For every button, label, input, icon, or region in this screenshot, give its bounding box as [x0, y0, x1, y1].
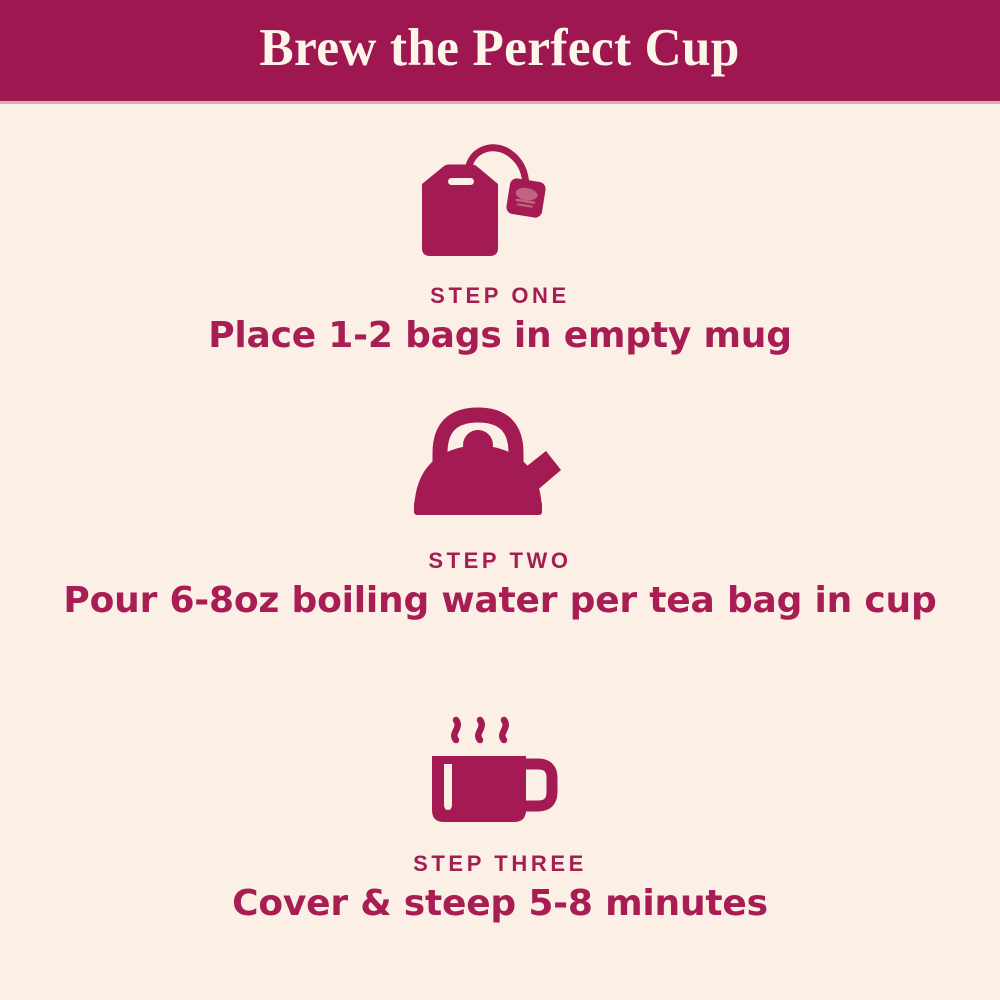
header-band: Brew the Perfect Cup [0, 0, 1000, 101]
step-three-text: Cover & steep 5-8 minutes [0, 877, 1000, 925]
kettle-icon [0, 401, 1000, 526]
steaming-mug-icon [0, 704, 1000, 829]
tea-bag-icon [0, 136, 1000, 261]
step-two-text: Pour 6-8oz boiling water per tea bag in … [0, 574, 1000, 622]
step-one-text: Place 1-2 bags in empty mug [0, 309, 1000, 357]
step-one-label: STEP ONE [0, 283, 1000, 309]
step-item-one: STEP ONE Place 1-2 bags in empty mug [0, 136, 1000, 358]
brew-instructions-infographic: Brew the Perfect Cup [0, 0, 1000, 1000]
page-title: Brew the Perfect Cup [260, 22, 740, 79]
steps-list: STEP ONE Place 1-2 bags in empty mug [0, 101, 1000, 1000]
step-item-two: STEP TWO Pour 6-8oz boiling water per te… [0, 401, 1000, 623]
step-two-label: STEP TWO [0, 548, 1000, 574]
step-item-three: STEP THREE Cover & steep 5-8 minutes [0, 704, 1000, 926]
step-three-label: STEP THREE [0, 851, 1000, 877]
